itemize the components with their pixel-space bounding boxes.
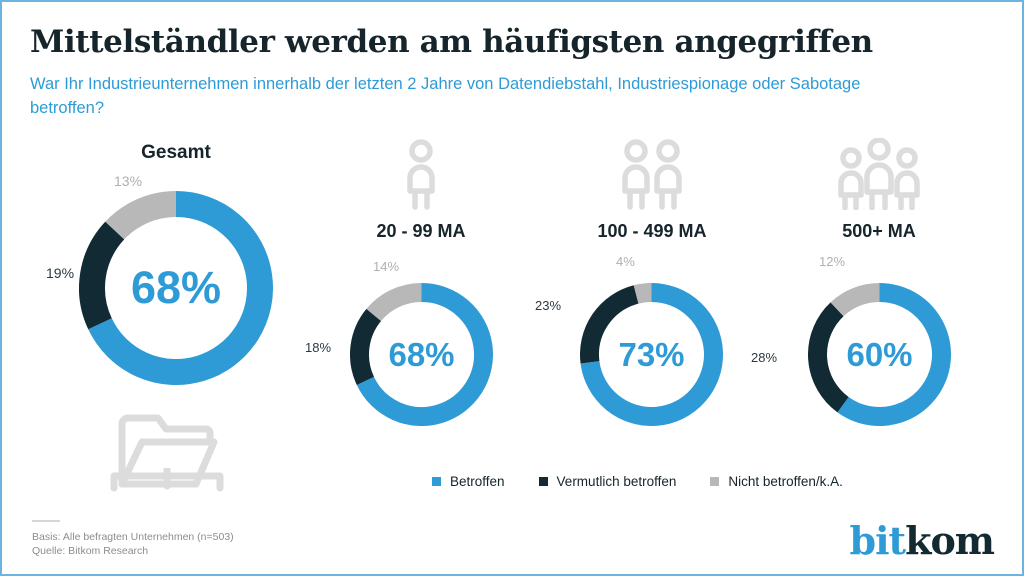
donut-segment	[837, 293, 879, 310]
page-subtitle: War Ihr Industrieunternehmen innerhalb d…	[30, 72, 910, 120]
donut-chart-500-plus-ma: 60%	[808, 283, 951, 426]
chart-title-20-99-ma: 20 - 99 MA	[321, 221, 521, 242]
donut-segment	[590, 294, 637, 362]
donut-segment	[636, 293, 651, 295]
segment-label-gesamt-vermutlich: 19%	[46, 265, 74, 281]
chart-legend: Betroffen Vermutlich betroffen Nicht bet…	[432, 474, 843, 489]
person-icon-group-500-plus	[835, 138, 923, 210]
infographic-canvas: Mittelständler werden am häufigsten ange…	[0, 0, 1024, 576]
chart-title-gesamt: Gesamt	[76, 142, 276, 164]
segment-label-100-499-vermutlich: 23%	[535, 298, 561, 313]
segment-label-500-plus-nicht-betroffen: 12%	[819, 254, 845, 269]
person-icon-group-20-99	[396, 138, 446, 210]
legend-swatch-vermutlich-betroffen	[539, 477, 548, 486]
page-title: Mittelständler werden am häufigsten ange…	[30, 24, 873, 60]
folder-stand-icon	[108, 468, 226, 492]
person-icon-group-100-499	[617, 138, 687, 210]
donut-segment	[115, 204, 176, 230]
chart-title-500-plus-ma: 500+ MA	[779, 221, 979, 242]
footer-quelle: Quelle: Bitkom Research	[32, 544, 148, 558]
legend-item-nicht-betroffen[interactable]: Nicht betroffen/k.A.	[710, 474, 843, 489]
segment-label-20-99-vermutlich: 18%	[305, 340, 331, 355]
legend-item-betroffen[interactable]: Betroffen	[432, 474, 505, 489]
donut-segment	[818, 309, 844, 404]
legend-label-vermutlich-betroffen: Vermutlich betroffen	[557, 474, 677, 489]
legend-label-betroffen: Betroffen	[450, 474, 505, 489]
bitkom-logo-part1: bit	[850, 518, 906, 563]
legend-label-nicht-betroffen: Nicht betroffen/k.A.	[728, 474, 843, 489]
segment-label-100-499-nicht-betroffen: 4%	[616, 254, 635, 269]
donut-segment	[843, 293, 941, 417]
donut-segment	[360, 315, 374, 381]
donut-segment	[374, 293, 422, 315]
segment-label-500-plus-vermutlich: 28%	[751, 350, 777, 365]
chart-title-100-499-ma: 100 - 499 MA	[552, 221, 752, 242]
segment-label-gesamt-nicht-betroffen: 13%	[114, 173, 142, 189]
footer-divider	[32, 520, 60, 522]
legend-swatch-betroffen	[432, 477, 441, 486]
footer-basis: Basis: Alle befragten Unternehmen (n=503…	[32, 530, 234, 544]
segment-label-20-99-nicht-betroffen: 14%	[373, 259, 399, 274]
donut-chart-100-499-ma: 73%	[580, 283, 723, 426]
legend-swatch-nicht-betroffen	[710, 477, 719, 486]
bitkom-logo-part2: kom	[905, 518, 994, 563]
donut-chart-gesamt: 68%	[79, 191, 273, 385]
bitkom-logo: bitkom	[850, 522, 994, 560]
donut-segment	[92, 230, 115, 323]
donut-chart-20-99-ma: 68%	[350, 283, 493, 426]
legend-item-vermutlich-betroffen[interactable]: Vermutlich betroffen	[539, 474, 677, 489]
